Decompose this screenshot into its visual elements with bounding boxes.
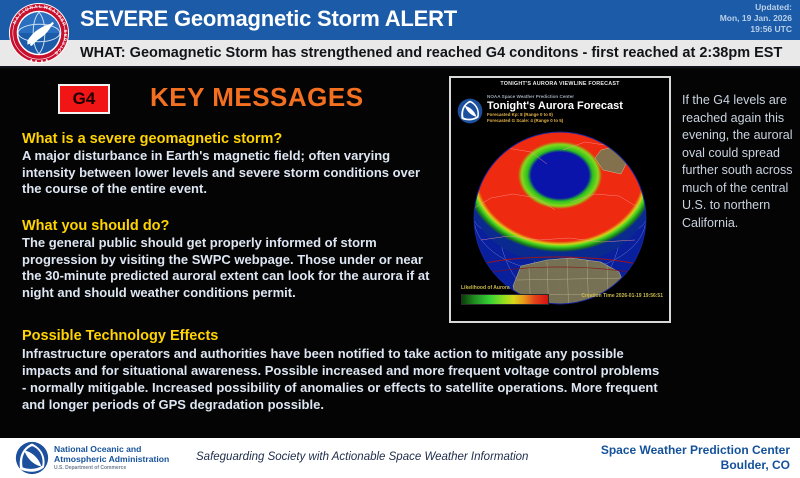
section-what-is-storm: What is a severe geomagnetic storm? A ma… [22,131,442,198]
side-note-text: If the G4 levels are reached again this … [682,92,794,232]
noaa-department: U.S. Department of Commerce [54,465,126,471]
aurora-legend-label: Likelihood of Aurora [461,285,510,291]
key-messages-title: KEY MESSAGES [150,82,364,113]
footer-tagline: Safeguarding Society with Actionable Spa… [196,451,528,463]
noaa-agency-name: National Oceanic and Atmospheric Adminis… [54,444,169,464]
section-what-you-should-do: What you should do? The general public s… [22,218,442,301]
section-body: Infrastructure operators and authorities… [22,345,662,413]
footer-center-info: Space Weather Prediction Center Boulder,… [601,443,790,473]
updated-date: Mon, 19 Jan. 2026 [720,13,792,24]
noaa-seal-icon [14,441,50,475]
svg-text:S: S [63,29,68,32]
updated-timestamp: Updated: Mon, 19 Jan. 2026 19:56 UTC [720,2,792,35]
footer-bar: National Oceanic and Atmospheric Adminis… [0,438,800,478]
section-heading: What is a severe geomagnetic storm? [22,131,442,147]
g4-status-badge: G4 [58,84,110,114]
section-technology-effects: Possible Technology Effects Infrastructu… [22,328,662,413]
noaa-agency-line2: Atmospheric Administration [54,454,169,464]
noaa-agency-line1: National Oceanic and [54,444,169,454]
center-location: Boulder, CO [601,458,790,473]
noaa-seal-icon [457,98,483,124]
aurora-forecast-kp: Forecasted Kp: 8 (Range 0 to 9) [487,112,553,117]
updated-time: 19:56 UTC [720,24,792,35]
updated-label: Updated: [720,2,792,13]
aurora-image-title: Tonight's Aurora Forecast [487,100,623,112]
national-weather-service-seal-icon: N A T I O N A L W E A T H E R S E R V I … [8,2,70,64]
section-body: The general public should get properly i… [22,235,442,301]
aurora-forecast-panel: TONIGHT'S AURORA VIEWLINE FORECAST [449,76,671,323]
section-heading: What you should do? [22,218,442,234]
page-title: SEVERE Geomagnetic Storm ALERT [80,6,457,32]
section-body: A major disturbance in Earth's magnetic … [22,148,442,198]
section-heading: Possible Technology Effects [22,328,662,344]
header-bar: SEVERE Geomagnetic Storm ALERT Updated: … [0,0,800,40]
aurora-forecast-image: NOAA Space Weather Prediction Center Ton… [451,90,669,321]
aurora-creation-time: Creation Time 2026-01-19 19:56:51 [581,293,663,299]
aurora-agency-line: NOAA Space Weather Prediction Center [487,94,574,99]
aurora-panel-title: TONIGHT'S AURORA VIEWLINE FORECAST [451,78,669,90]
center-name: Space Weather Prediction Center [601,443,790,458]
aurora-forecast-gscale: Forecasted G Scale: 4 (Range 0 to 5) [487,118,563,123]
aurora-legend-colorbar [461,294,549,305]
what-bar: WHAT: Geomagnetic Storm has strengthened… [0,40,800,68]
what-bar-text: WHAT: Geomagnetic Storm has strengthened… [80,45,782,61]
